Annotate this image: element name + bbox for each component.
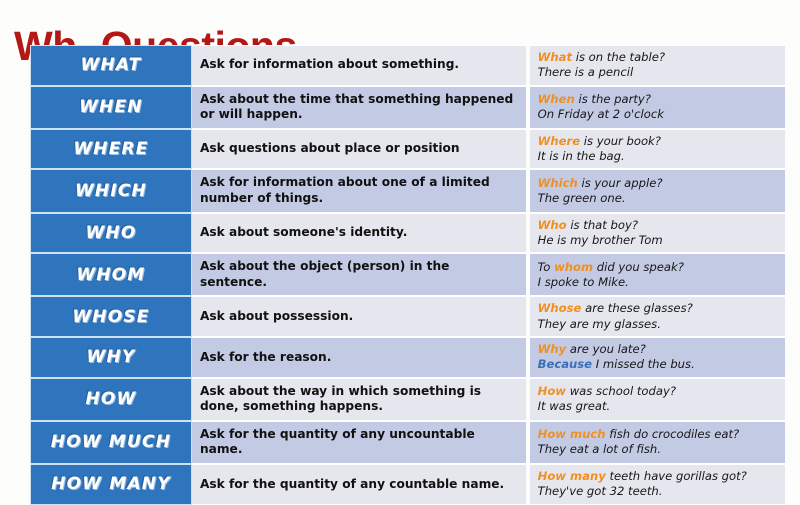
table-row: WHOAsk about someone's identity.Who is t…: [30, 213, 785, 254]
question-word-cell: WHOM: [30, 253, 192, 296]
example-question-rest: did you speak?: [593, 260, 684, 274]
example-keyword: Which: [538, 176, 578, 190]
example-question-rest: is your book?: [580, 134, 661, 148]
example-answer: It is in the bag.: [538, 149, 779, 164]
example-answer: It was great.: [538, 399, 779, 414]
example-keyword: When: [538, 92, 575, 106]
example-cell: Whose are these glasses?They are my glas…: [526, 296, 785, 337]
example-cell: How was school today?It was great.: [526, 378, 785, 421]
table-row: WHOSEAsk about possession.Whose are thes…: [30, 296, 785, 337]
example-cell: To whom did you speak?I spoke to Mike.: [526, 253, 785, 296]
example-answer: I spoke to Mike.: [538, 275, 779, 290]
example-answer: They eat a lot of fish.: [538, 442, 779, 457]
question-word-cell: WHY: [30, 337, 192, 378]
example-cell: Why are you late?Because I missed the bu…: [526, 337, 785, 378]
table-row: HOW MANYAsk for the quantity of any coun…: [30, 464, 785, 505]
question-word-cell: WHICH: [30, 169, 192, 212]
example-keyword: How many: [538, 469, 606, 483]
question-description-cell: Ask questions about place or position: [192, 129, 526, 170]
table-row: HOWAsk about the way in which something …: [30, 378, 785, 421]
table-row: WHEREAsk questions about place or positi…: [30, 129, 785, 170]
question-description-cell: Ask for the reason.: [192, 337, 526, 378]
question-description-cell: Ask about the way in which something is …: [192, 378, 526, 421]
question-description-cell: Ask for information about something.: [192, 45, 526, 86]
example-answer-text: There is a pencil: [538, 65, 634, 79]
example-question-rest: are you late?: [566, 342, 646, 356]
table-row: WHENAsk about the time that something ha…: [30, 86, 785, 129]
example-answer-text: It is in the bag.: [538, 149, 625, 163]
example-keyword: How: [538, 384, 566, 398]
example-cell: Which is your apple?The green one.: [526, 169, 785, 212]
example-answer-text: The green one.: [538, 191, 626, 205]
table-row: WHOMAsk about the object (person) in the…: [30, 253, 785, 296]
example-answer: They are my glasses.: [538, 317, 779, 332]
question-word-cell: WHAT: [30, 45, 192, 86]
example-answer-keyword: Because: [538, 357, 592, 371]
example-keyword: What: [538, 50, 572, 64]
question-description-cell: Ask about the time that something happen…: [192, 86, 526, 129]
example-question-prefix: To: [538, 260, 554, 274]
example-cell: Where is your book?It is in the bag.: [526, 129, 785, 170]
example-answer: On Friday at 2 o'clock: [538, 107, 779, 122]
question-word-cell: WHOSE: [30, 296, 192, 337]
wh-questions-table-body: WHATAsk for information about something.…: [30, 45, 785, 505]
table-row: WHYAsk for the reason.Why are you late?B…: [30, 337, 785, 378]
example-answer: Because I missed the bus.: [538, 357, 779, 372]
example-answer-text: On Friday at 2 o'clock: [538, 107, 664, 121]
example-answer-rest: I missed the bus.: [592, 357, 695, 371]
question-word-cell: WHO: [30, 213, 192, 254]
example-keyword: How much: [538, 427, 606, 441]
example-question: To whom did you speak?: [538, 260, 779, 275]
example-answer-text: They've got 32 teeth.: [538, 484, 663, 498]
example-question: Where is your book?: [538, 134, 779, 149]
example-question: How much fish do crocodiles eat?: [538, 427, 779, 442]
table-row: WHICHAsk for information about one of a …: [30, 169, 785, 212]
example-question: Who is that boy?: [538, 218, 779, 233]
example-question-rest: is on the table?: [572, 50, 665, 64]
question-description-cell: Ask for the quantity of any countable na…: [192, 464, 526, 505]
example-question-rest: are these glasses?: [581, 301, 692, 315]
example-question: What is on the table?: [538, 50, 779, 65]
example-answer-text: He is my brother Tom: [538, 233, 663, 247]
example-answer-text: It was great.: [538, 399, 611, 413]
question-description-cell: Ask about someone's identity.: [192, 213, 526, 254]
example-question: Which is your apple?: [538, 176, 779, 191]
example-question: When is the party?: [538, 92, 779, 107]
example-question-rest: teeth have gorillas got?: [606, 469, 747, 483]
table-row: WHATAsk for information about something.…: [30, 45, 785, 86]
example-answer: There is a pencil: [538, 65, 779, 80]
example-keyword: Where: [538, 134, 581, 148]
example-answer: The green one.: [538, 191, 779, 206]
example-question-rest: fish do crocodiles eat?: [606, 427, 740, 441]
example-keyword: Who: [538, 218, 567, 232]
question-description-cell: Ask about possession.: [192, 296, 526, 337]
example-cell: Who is that boy?He is my brother Tom: [526, 213, 785, 254]
example-answer-text: They eat a lot of fish.: [538, 442, 661, 456]
example-question: Why are you late?: [538, 342, 779, 357]
example-question: How was school today?: [538, 384, 779, 399]
example-question-rest: is your apple?: [578, 176, 663, 190]
example-answer-text: They are my glasses.: [538, 317, 661, 331]
example-question-rest: is the party?: [575, 92, 651, 106]
question-word-cell: WHERE: [30, 129, 192, 170]
example-cell: When is the party?On Friday at 2 o'clock: [526, 86, 785, 129]
question-description-cell: Ask for information about one of a limit…: [192, 169, 526, 212]
question-word-cell: HOW: [30, 378, 192, 421]
example-cell: How many teeth have gorillas got?They've…: [526, 464, 785, 505]
example-question: How many teeth have gorillas got?: [538, 469, 779, 484]
example-keyword: Whose: [538, 301, 582, 315]
example-question-rest: is that boy?: [567, 218, 638, 232]
question-description-cell: Ask about the object (person) in the sen…: [192, 253, 526, 296]
example-question: Whose are these glasses?: [538, 301, 779, 316]
example-question-rest: was school today?: [566, 384, 676, 398]
example-answer: They've got 32 teeth.: [538, 484, 779, 499]
example-cell: What is on the table?There is a pencil: [526, 45, 785, 86]
example-keyword: whom: [554, 260, 593, 274]
question-word-cell: WHEN: [30, 86, 192, 129]
wh-questions-table: WHATAsk for information about something.…: [30, 45, 785, 505]
question-word-cell: HOW MANY: [30, 464, 192, 505]
example-answer: He is my brother Tom: [538, 233, 779, 248]
example-keyword: Why: [538, 342, 567, 356]
example-answer-text: I spoke to Mike.: [538, 275, 629, 289]
